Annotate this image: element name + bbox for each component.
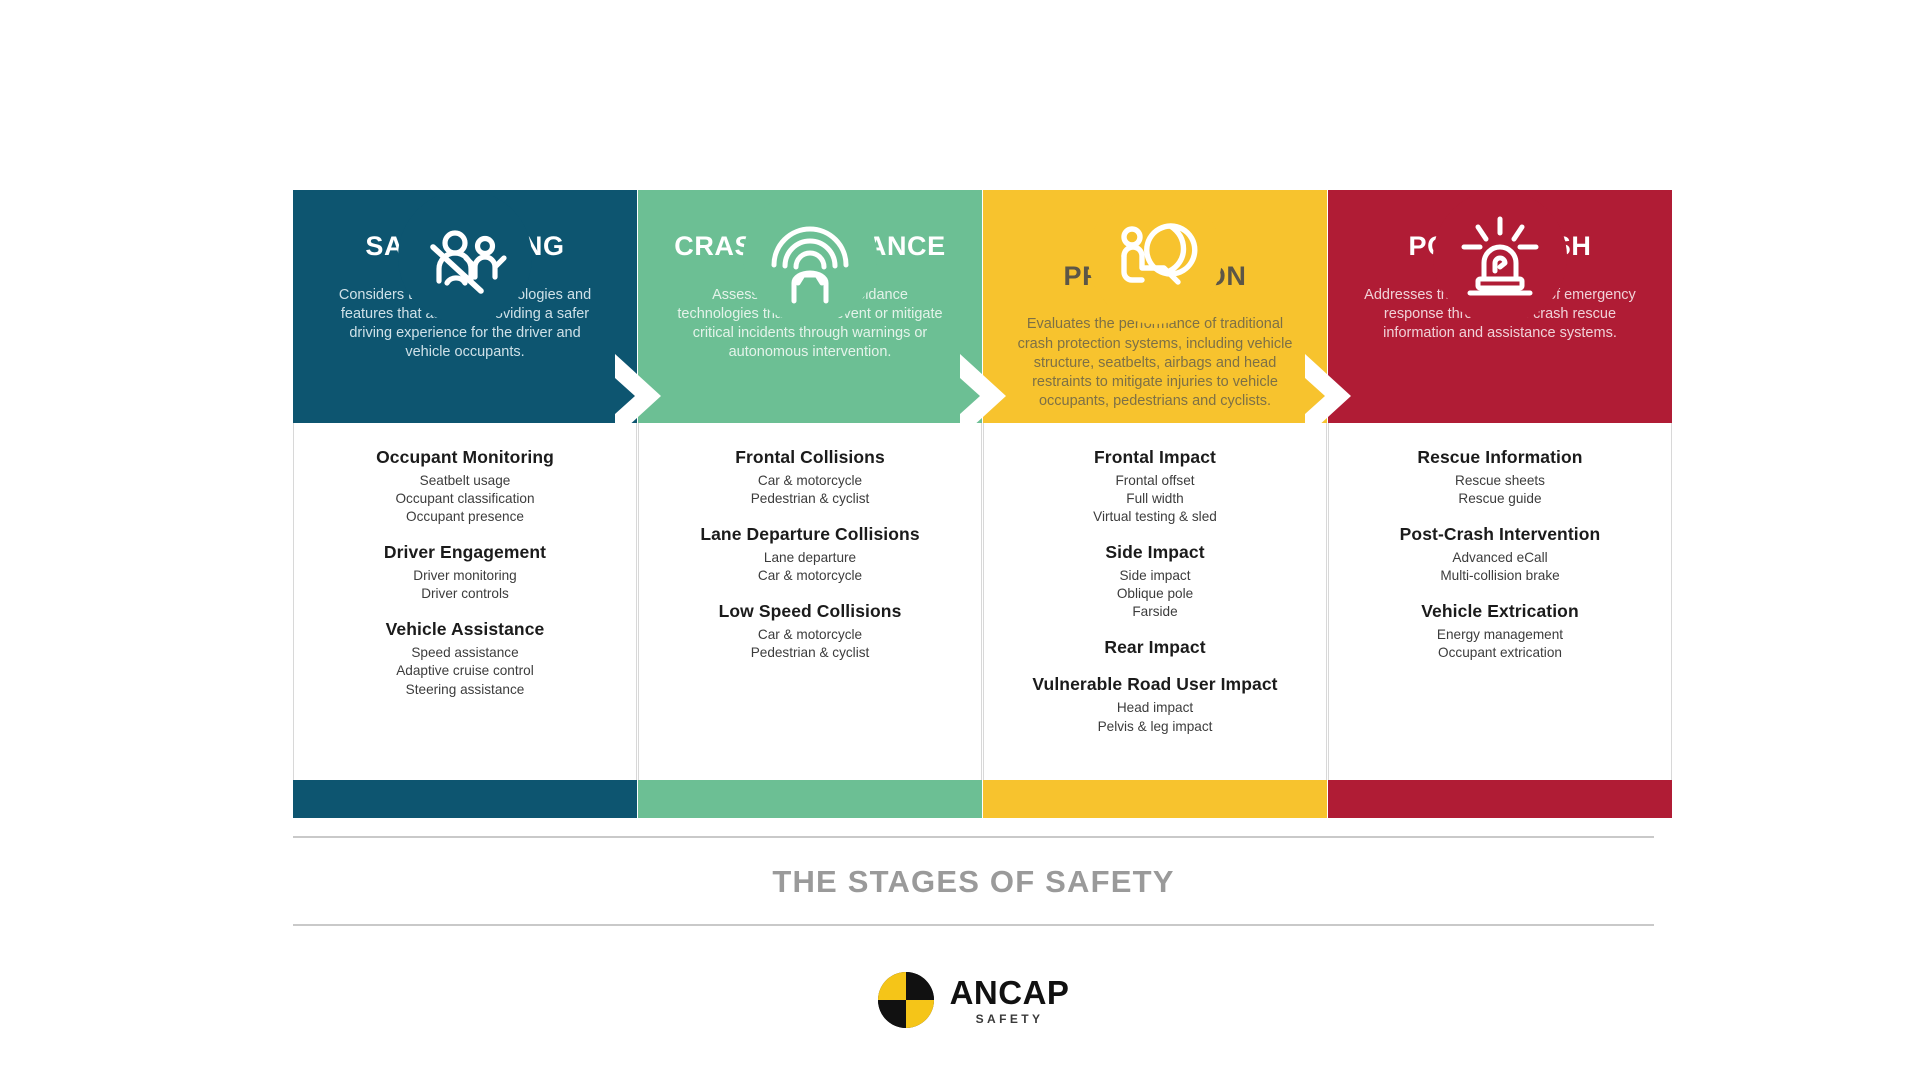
stage-footer-bar-safe-driving [293, 780, 637, 818]
stage-body-crash-protection: Frontal Impact Frontal offset Full width… [983, 423, 1327, 780]
stage-footer-bar-post-crash [1328, 780, 1672, 818]
stage-column-safe-driving: SAFE DRIVING Considers the vehicle techn… [293, 190, 637, 818]
group-item: Side impact [998, 567, 1312, 585]
group-heading: Vehicle Extrication [1343, 601, 1657, 622]
stage-group: Rear Impact [998, 637, 1312, 658]
stage-footer-bar-crash-avoidance [638, 780, 982, 818]
group-item: Virtual testing & sled [998, 508, 1312, 526]
stage-group: Occupant Monitoring Seatbelt usage Occup… [308, 447, 622, 526]
ancap-logo: ANCAP SAFETY [293, 972, 1654, 1028]
stage-group: Vehicle Assistance Speed assistance Adap… [308, 619, 622, 698]
group-item: Pedestrian & cyclist [653, 490, 967, 508]
group-heading: Rear Impact [998, 637, 1312, 658]
occupants-seatbelt-icon [398, 190, 532, 324]
group-item: Driver controls [308, 585, 622, 603]
group-heading: Frontal Impact [998, 447, 1312, 468]
stage-group: Vulnerable Road User Impact Head impact … [998, 674, 1312, 735]
group-item: Rescue guide [1343, 490, 1657, 508]
group-item: Car & motorcycle [653, 472, 967, 490]
group-item: Oblique pole [998, 585, 1312, 603]
ancap-subtitle: SAFETY [950, 1013, 1070, 1025]
chevron-right-icon-3 [1297, 350, 1359, 442]
group-item: Pelvis & leg impact [998, 718, 1312, 736]
radar-waves-car-icon [743, 190, 877, 324]
group-item: Occupant presence [308, 508, 622, 526]
stage-group: Side Impact Side impact Oblique pole Far… [998, 542, 1312, 621]
stage-group: Frontal Collisions Car & motorcycle Pede… [653, 447, 967, 508]
group-item: Full width [998, 490, 1312, 508]
stages-of-safety-title: THE STAGES OF SAFETY [293, 838, 1654, 924]
group-item: Seatbelt usage [308, 472, 622, 490]
group-item: Speed assistance [308, 644, 622, 662]
group-heading: Occupant Monitoring [308, 447, 622, 468]
stage-group: Driver Engagement Driver monitoring Driv… [308, 542, 622, 603]
emergency-beacon-icon [1433, 190, 1567, 324]
stage-body-post-crash: Rescue Information Rescue sheets Rescue … [1328, 423, 1672, 780]
stage-body-crash-avoidance: Frontal Collisions Car & motorcycle Pede… [638, 423, 982, 780]
stage-group: Frontal Impact Frontal offset Full width… [998, 447, 1312, 526]
group-heading: Vulnerable Road User Impact [998, 674, 1312, 695]
group-item: Advanced eCall [1343, 549, 1657, 567]
group-heading: Frontal Collisions [653, 447, 967, 468]
group-heading: Low Speed Collisions [653, 601, 967, 622]
group-heading: Vehicle Assistance [308, 619, 622, 640]
stage-group: Low Speed Collisions Car & motorcycle Pe… [653, 601, 967, 662]
page-footer: THE STAGES OF SAFETY ANCAP SAFETY [293, 836, 1654, 1028]
group-item: Occupant classification [308, 490, 622, 508]
group-heading: Driver Engagement [308, 542, 622, 563]
group-item: Car & motorcycle [653, 626, 967, 644]
airbag-occupant-icon [1088, 190, 1222, 324]
ancap-logo-mark-icon [878, 972, 934, 1028]
group-item: Head impact [998, 699, 1312, 717]
group-item: Energy management [1343, 626, 1657, 644]
stage-column-crash-protection: CRASH PROTECTION Evaluates the performan… [983, 190, 1327, 818]
stage-description: Evaluates the performance of traditional… [1011, 315, 1299, 411]
group-item: Occupant extrication [1343, 644, 1657, 662]
stage-footer-bar-crash-protection [983, 780, 1327, 818]
group-heading: Post-Crash Intervention [1343, 524, 1657, 545]
group-item: Steering assistance [308, 681, 622, 699]
stage-body-safe-driving: Occupant Monitoring Seatbelt usage Occup… [293, 423, 637, 780]
divider-bottom [293, 924, 1654, 926]
group-item: Car & motorcycle [653, 567, 967, 585]
group-item: Lane departure [653, 549, 967, 567]
stages-board: SAFE DRIVING Considers the vehicle techn… [293, 95, 1654, 815]
group-item: Driver monitoring [308, 567, 622, 585]
group-item: Adaptive cruise control [308, 662, 622, 680]
group-item: Multi-collision brake [1343, 567, 1657, 585]
chevron-right-icon-1 [607, 350, 669, 442]
group-heading: Lane Departure Collisions [653, 524, 967, 545]
group-item: Pedestrian & cyclist [653, 644, 967, 662]
ancap-wordmark: ANCAP [950, 976, 1070, 1009]
group-item: Frontal offset [998, 472, 1312, 490]
group-item: Farside [998, 603, 1312, 621]
stage-group: Lane Departure Collisions Lane departure… [653, 524, 967, 585]
group-item: Rescue sheets [1343, 472, 1657, 490]
stage-group: Rescue Information Rescue sheets Rescue … [1343, 447, 1657, 508]
stage-column-post-crash: POST CRASH Addresses the ‘golden hour’ o… [1328, 190, 1672, 818]
stage-column-crash-avoidance: CRASH AVOIDANCE Assesses the crash avoid… [638, 190, 982, 818]
stage-group: Post-Crash Intervention Advanced eCall M… [1343, 524, 1657, 585]
stage-group: Vehicle Extrication Energy management Oc… [1343, 601, 1657, 662]
ancap-logo-text: ANCAP SAFETY [950, 976, 1070, 1025]
group-heading: Rescue Information [1343, 447, 1657, 468]
chevron-right-icon-2 [952, 350, 1014, 442]
group-heading: Side Impact [998, 542, 1312, 563]
